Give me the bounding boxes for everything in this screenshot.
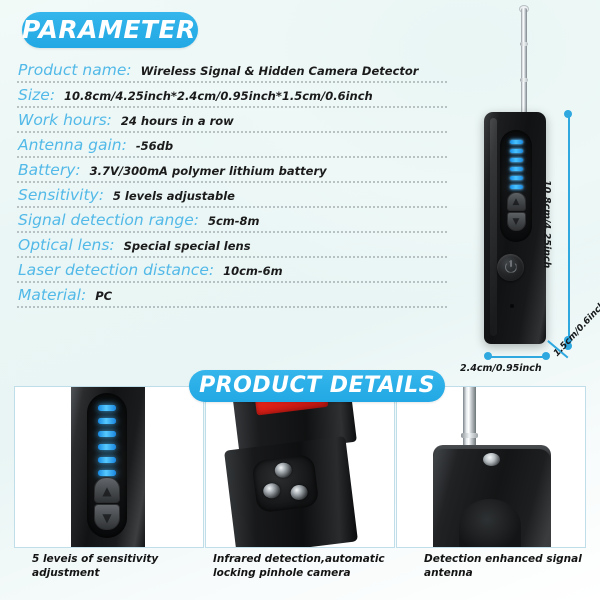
param-label-laser-detection-distance: Laser detection distance:: [18, 261, 214, 279]
param-value-optical-lens: Special special lens: [124, 239, 251, 253]
dimension-dot: [542, 352, 550, 360]
antenna-mount-screw: [483, 453, 500, 466]
mode-button[interactable]: ▼: [94, 504, 120, 530]
sensitivity-up-button[interactable]: ▲: [507, 192, 526, 211]
device-lower-housing: [224, 436, 358, 548]
param-label-product-name: Product name:: [18, 61, 132, 79]
power-icon-bar: [510, 260, 512, 267]
led-bar: [98, 418, 116, 424]
depth-dimension-label: 1.5cm/0.6inch: [552, 300, 600, 359]
device-closeup-infrared: [206, 387, 395, 548]
table-row: Work hours: 24 hours in a row: [16, 108, 448, 133]
width-dimension-line: [488, 356, 546, 358]
device-illustration: ▲ ▼ 10.8cm/4.25inch: [448, 0, 600, 380]
detail-caption-antenna: Detection enhanced signal antenna: [424, 552, 599, 580]
param-value-material: PC: [95, 289, 112, 303]
height-dimension-line: [568, 114, 570, 346]
product-details-badge: PRODUCT DETAILS: [189, 370, 445, 402]
param-value-work-hours: 24 hours in a row: [121, 114, 234, 128]
antenna-segment-joint: [461, 433, 478, 438]
antenna-wave-icon: ▼: [508, 213, 525, 232]
table-row: Laser detection distance: 10cm-6m: [16, 258, 448, 283]
param-value-product-name: Wireless Signal & Hidden Camera Detector: [141, 64, 419, 78]
param-label-work-hours: Work hours:: [18, 111, 112, 129]
width-dimension-label: 2.4cm/0.95inch: [460, 363, 542, 374]
dimension-dot: [484, 352, 492, 360]
mode-button[interactable]: ▼: [507, 212, 526, 231]
infrared-led-icon: [274, 462, 293, 479]
led-bar: [510, 185, 523, 189]
param-label-optical-lens: Optical lens:: [18, 236, 115, 254]
led-bar: [510, 158, 523, 162]
device-body: ▲ ▼: [484, 112, 546, 344]
parameter-section-badge: PARAMETER: [22, 12, 198, 48]
body-highlight: [490, 118, 497, 336]
infrared-led-icon: [290, 484, 309, 501]
detail-panel-sensitivity: ▲ ▼: [14, 386, 204, 548]
signal-waves-icon: ▲: [95, 478, 119, 504]
table-row: Product name: Wireless Signal & Hidden C…: [16, 58, 448, 83]
led-bar: [98, 405, 116, 411]
microphone-hole: [510, 304, 514, 308]
power-button[interactable]: [497, 254, 524, 281]
telescopic-antenna: [521, 8, 527, 116]
param-label-sensitivity: Sensitivity:: [18, 186, 104, 204]
param-value-laser-detection-distance: 10cm-6m: [223, 264, 283, 278]
param-label-size: Size:: [18, 86, 55, 104]
param-value-size: 10.8cm/4.25inch*2.4cm/0.95inch*1.5cm/0.6…: [64, 89, 373, 103]
param-value-antenna-gain: -56db: [136, 139, 173, 153]
led-bar: [510, 140, 523, 144]
parameter-table: Product name: Wireless Signal & Hidden C…: [16, 58, 448, 308]
detail-panel-infrared: [205, 386, 395, 548]
table-row: Size: 10.8cm/4.25inch*2.4cm/0.95inch*1.5…: [16, 83, 448, 108]
detail-caption-infrared: Infrared detection,automatic locking pin…: [213, 552, 398, 580]
led-control-recess: ▲ ▼: [500, 130, 532, 242]
table-row: Battery: 3.7V/300mA polymer lithium batt…: [16, 158, 448, 183]
infrared-led-icon: [262, 482, 281, 499]
table-row: Sensitivity: 5 levels adjustable: [16, 183, 448, 208]
led-bar: [98, 457, 116, 463]
device-closeup-sensitivity: ▲ ▼: [71, 386, 145, 548]
product-spec-page: PARAMETER Product name: Wireless Signal …: [0, 0, 600, 600]
led-bar: [510, 149, 523, 153]
table-row: Signal detection range: 5cm-8m: [16, 208, 448, 233]
table-row: Antenna gain: -56db: [16, 133, 448, 158]
height-dimension-label: 10.8cm/4.25inch: [541, 180, 552, 268]
antenna-wave-icon: ▼: [95, 505, 119, 531]
antenna-segment-joint: [520, 78, 528, 82]
infrared-led-cluster: [252, 454, 320, 513]
param-label-material: Material:: [18, 286, 86, 304]
power-button[interactable]: [459, 499, 521, 548]
led-bar: [98, 444, 116, 450]
antenna-segment-joint: [520, 42, 528, 46]
led-bar: [98, 431, 116, 437]
device-closeup-antenna: [397, 387, 585, 547]
detail-panel-antenna: [396, 386, 586, 548]
led-bar: [510, 167, 523, 171]
signal-waves-icon: ▲: [508, 193, 525, 212]
param-value-battery: 3.7V/300mA polymer lithium battery: [90, 164, 327, 178]
led-bar: [510, 176, 523, 180]
table-row: Optical lens: Special special lens: [16, 233, 448, 258]
param-value-signal-detection-range: 5cm-8m: [208, 214, 260, 228]
led-bar: [98, 470, 116, 476]
table-row: Material: PC: [16, 283, 448, 308]
product-details-section: ▲ ▼ 5 leveis of sensitivity adjustment: [0, 386, 600, 600]
sensitivity-up-button[interactable]: ▲: [94, 477, 120, 503]
param-label-battery: Battery:: [18, 161, 81, 179]
parameter-section: PARAMETER Product name: Wireless Signal …: [0, 0, 600, 372]
dimension-dot: [564, 110, 572, 118]
led-control-recess: ▲ ▼: [87, 393, 127, 538]
param-label-signal-detection-range: Signal detection range:: [18, 211, 199, 229]
detail-caption-sensitivity: 5 leveis of sensitivity adjustment: [32, 552, 207, 580]
param-value-sensitivity: 5 levels adjustable: [113, 189, 235, 203]
param-label-antenna-gain: Antenna gain:: [18, 136, 127, 154]
